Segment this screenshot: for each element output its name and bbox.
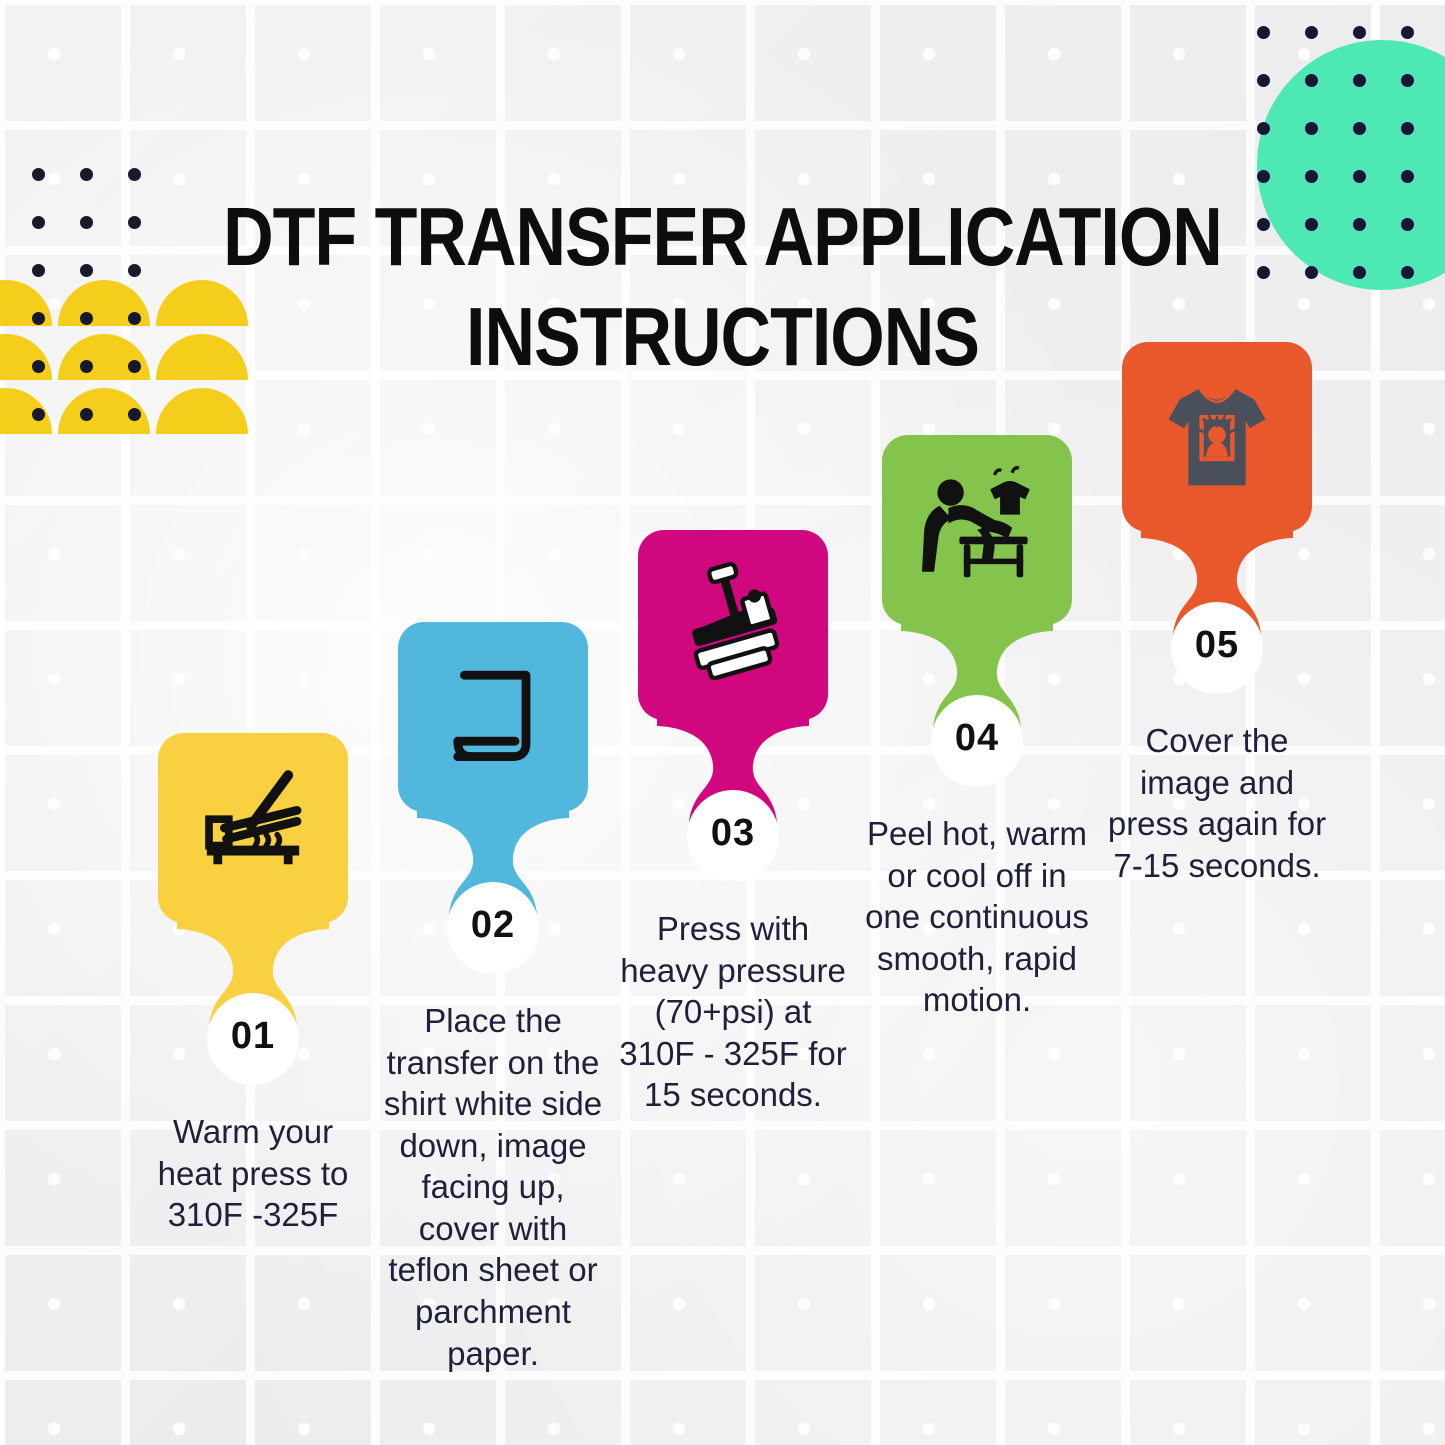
step-description: Press with heavy pressure (70+psi) at 31… bbox=[613, 908, 853, 1116]
transfer-sheet-icon bbox=[427, 651, 559, 783]
heat-press-machine-icon bbox=[667, 559, 799, 691]
step-connector-05: 05 bbox=[1097, 528, 1337, 716]
step-icon-card-02[interactable] bbox=[398, 622, 588, 812]
heat-press-open-icon bbox=[187, 762, 319, 894]
step-icon-card-05[interactable] bbox=[1122, 342, 1312, 532]
printed-tshirt-icon bbox=[1151, 371, 1283, 503]
step-description: Warm your heat press to 310F -325F bbox=[133, 1111, 373, 1236]
step-number-badge: 01 bbox=[133, 1015, 373, 1058]
step-icon-card-04[interactable] bbox=[882, 435, 1072, 625]
step-05: 05Cover the image and press again for 7-… bbox=[1097, 342, 1337, 886]
step-connector-04: 04 bbox=[857, 621, 1097, 809]
step-connector-02: 02 bbox=[373, 808, 613, 996]
step-connector-01: 01 bbox=[133, 919, 373, 1107]
step-02: 02Place the transfer on the shirt white … bbox=[373, 622, 613, 1374]
step-icon-card-01[interactable] bbox=[158, 733, 348, 923]
step-01: 01Warm your heat press to 310F -325F bbox=[133, 733, 373, 1236]
steps-container: 01Warm your heat press to 310F -325F 02P… bbox=[0, 0, 1445, 1445]
step-connector-03: 03 bbox=[613, 716, 853, 904]
step-description: Peel hot, warm or cool off in one contin… bbox=[857, 813, 1097, 1021]
step-03: 03Press with heavy pressure (70+psi) at … bbox=[613, 530, 853, 1116]
step-number-badge: 04 bbox=[857, 717, 1097, 760]
step-number-badge: 02 bbox=[373, 904, 613, 947]
step-description: Cover the image and press again for 7-15… bbox=[1097, 720, 1337, 886]
peel-transfer-worker-icon bbox=[911, 464, 1043, 596]
step-icon-card-03[interactable] bbox=[638, 530, 828, 720]
step-number-badge: 03 bbox=[613, 812, 853, 855]
step-number-badge: 05 bbox=[1097, 624, 1337, 667]
step-04: 04Peel hot, warm or cool off in one cont… bbox=[857, 435, 1097, 1021]
step-description: Place the transfer on the shirt white si… bbox=[373, 1000, 613, 1374]
